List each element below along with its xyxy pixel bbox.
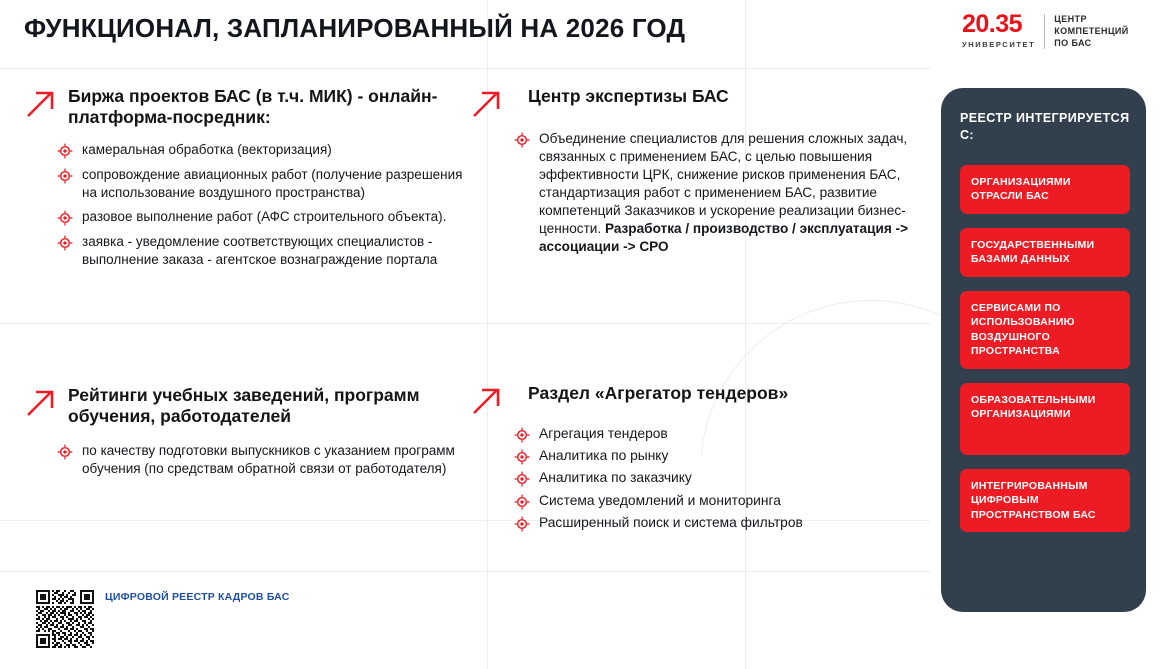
block-1-bullet-list: камеральная обработка (векторизация) соп… [57,141,474,269]
block-2-header: Центр экспертизы БАС [470,86,910,120]
target-bullet-icon [57,444,73,460]
block-expertise-center: Центр экспертизы БАС Объединение специал… [470,86,910,264]
registry-chip-educational-organizations[interactable]: ОБРАЗОВАТЕЛЬНЫМИ ОРГАНИЗАЦИЯМИ [960,383,1130,455]
logo-center-line-3: ПО БАС [1054,37,1128,49]
registry-chip-industry-organizations[interactable]: ОРГАНИЗАЦИЯМИ ОТРАСЛИ БАС [960,165,1130,214]
list-item-text: камеральная обработка (векторизация) [82,141,332,159]
list-item: Агрегация тендеров [514,425,910,443]
page-title: ФУНКЦИОНАЛ, ЗАПЛАНИРОВАННЫЙ НА 2026 ГОД [24,13,685,44]
logo-center-name: ЦЕНТР КОМПЕТЕНЦИЙ ПО БАС [1054,12,1128,49]
guide-line-horizontal-1 [0,68,930,69]
list-item-text: Объединение специалистов для решения сло… [539,130,910,257]
block-2-bullet-list: Объединение специалистов для решения сло… [514,130,910,257]
list-item: камеральная обработка (векторизация) [57,141,474,159]
target-bullet-icon [514,516,530,532]
block-1-title: Биржа проектов БАС (в т.ч. МИК) - онлайн… [68,86,474,129]
target-bullet-icon [57,235,73,251]
target-bullet-icon [57,210,73,226]
target-bullet-icon [514,471,530,487]
qr-code-icon[interactable] [36,590,94,648]
list-item: Объединение специалистов для решения сло… [514,130,910,257]
list-item-text: по качеству подготовки выпускников с ука… [82,442,474,478]
registry-chip-state-databases[interactable]: ГОСУДАРСТВЕННЫМИ БАЗАМИ ДАННЫХ [960,228,1130,277]
list-item-text: разовое выполнение работ (АФС строительн… [82,208,446,226]
arrow-northeast-icon [24,88,58,120]
target-bullet-icon [514,449,530,465]
list-item-text: Агрегация тендеров [539,425,668,443]
block-2-title: Центр экспертизы БАС [514,86,729,107]
guide-line-horizontal-2 [0,323,930,324]
brand-logo: 20.35 УНИВЕРСИТЕТ ЦЕНТР КОМПЕТЕНЦИЙ ПО Б… [962,12,1129,49]
slide-canvas: ФУНКЦИОНАЛ, ЗАПЛАНИРОВАННЫЙ НА 2026 ГОД … [0,0,1170,669]
block-4-title: Раздел «Агрегатор тендеров» [514,383,788,404]
logo-subtitle: УНИВЕРСИТЕТ [962,40,1035,49]
block-3-header: Рейтинги учебных заведений, программ обу… [24,385,474,428]
list-item: заявка - уведомление соответствующих спе… [57,233,474,269]
list-item-text: Аналитика по рынку [539,447,668,465]
list-item: Аналитика по рынку [514,447,910,465]
list-item-text: Аналитика по заказчику [539,469,692,487]
list-item: Аналитика по заказчику [514,469,910,487]
list-item-text: сопровождение авиационных работ (получен… [82,166,474,202]
list-item-text: заявка - уведомление соответствующих спе… [82,233,474,269]
list-item-text: Расширенный поиск и система фильтров [539,514,803,532]
list-item: разовое выполнение работ (АФС строительн… [57,208,474,226]
panel-title: РЕЕСТР ИНТЕГРИРУЕТСЯ С: [960,110,1130,144]
list-item: Расширенный поиск и система фильтров [514,514,910,532]
target-bullet-icon [514,132,530,148]
logo-divider [1044,14,1045,49]
guide-line-horizontal-4 [0,571,930,572]
block-ratings: Рейтинги учебных заведений, программ обу… [24,385,474,484]
list-item: сопровождение авиационных работ (получен… [57,166,474,202]
logo-university: 20.35 УНИВЕРСИТЕТ [962,12,1035,49]
logo-center-line-1: ЦЕНТР [1054,13,1128,25]
logo-number: 20.35 [962,12,1022,37]
list-item-text: Система уведомлений и мониторинга [539,492,781,510]
registry-chip-integrated-digital-space[interactable]: ИНТЕГРИРОВАННЫМ ЦИФРОВЫМ ПРОСТРАНСТВОМ Б… [960,469,1130,532]
arrow-northeast-icon [24,387,58,419]
block-4-header: Раздел «Агрегатор тендеров» [470,383,910,417]
block-projects-exchange: Биржа проектов БАС (в т.ч. МИК) - онлайн… [24,86,474,276]
registry-integrations-panel: РЕЕСТР ИНТЕГРИРУЕТСЯ С: ОРГАНИЗАЦИЯМИ ОТ… [941,88,1146,612]
qr-code-label: ЦИФРОВОЙ РЕЕСТР КАДРОВ БАС [105,590,289,604]
block-4-bullet-list: Агрегация тендеров Аналитика по рынку [514,425,910,532]
target-bullet-icon [514,494,530,510]
block-1-header: Биржа проектов БАС (в т.ч. МИК) - онлайн… [24,86,474,129]
target-bullet-icon [514,427,530,443]
registry-chip-airspace-services[interactable]: СЕРВИСАМИ ПО ИСПОЛЬЗОВАНИЮ ВОЗДУШНОГО ПР… [960,291,1130,369]
block-tender-aggregator: Раздел «Агрегатор тендеров» Агрегация те… [470,383,910,536]
list-item: по качеству подготовки выпускников с ука… [57,442,474,478]
block-3-title: Рейтинги учебных заведений, программ обу… [68,385,474,428]
arrow-northeast-icon [470,88,504,120]
target-bullet-icon [57,168,73,184]
arrow-northeast-icon [470,385,504,417]
footer-qr-block: ЦИФРОВОЙ РЕЕСТР КАДРОВ БАС [36,590,289,648]
block-3-bullet-list: по качеству подготовки выпускников с ука… [57,442,474,478]
list-item: Система уведомлений и мониторинга [514,492,910,510]
logo-center-line-2: КОМПЕТЕНЦИЙ [1054,25,1128,37]
target-bullet-icon [57,143,73,159]
